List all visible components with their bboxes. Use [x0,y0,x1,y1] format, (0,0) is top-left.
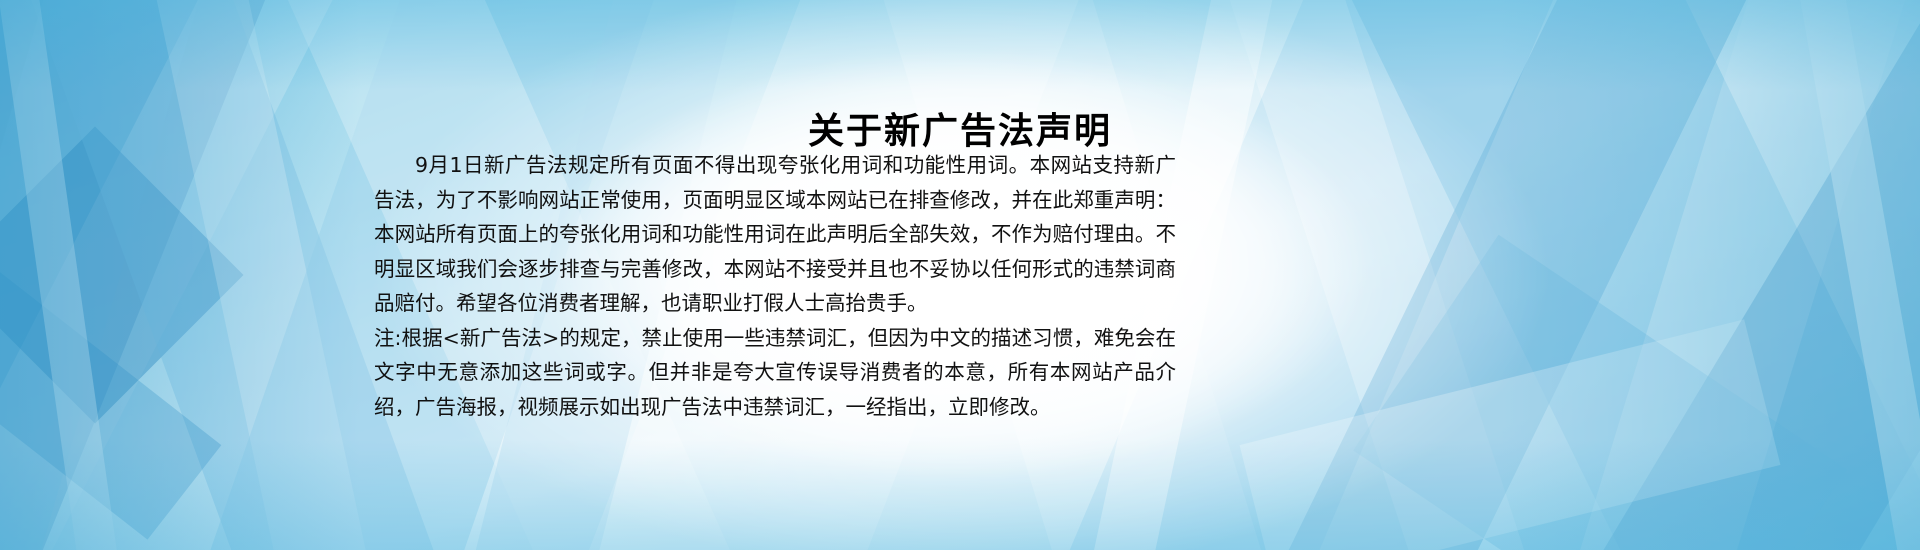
statement-paragraph-main: 9月1日新广告法规定所有页面不得出现夸张化用词和功能性用词。本网站支持新广告法，… [374,148,1176,321]
advertising-law-statement-banner: 关于新广告法声明 9月1日新广告法规定所有页面不得出现夸张化用词和功能性用词。本… [0,0,1920,550]
page-title: 关于新广告法声明 [0,110,1920,153]
statement-paragraph-note: 注:根据<新广告法>的规定，禁止使用一些违禁词汇，但因为中文的描述习惯，难免会在… [374,321,1176,425]
statement-body: 9月1日新广告法规定所有页面不得出现夸张化用词和功能性用词。本网站支持新广告法，… [374,148,1176,424]
